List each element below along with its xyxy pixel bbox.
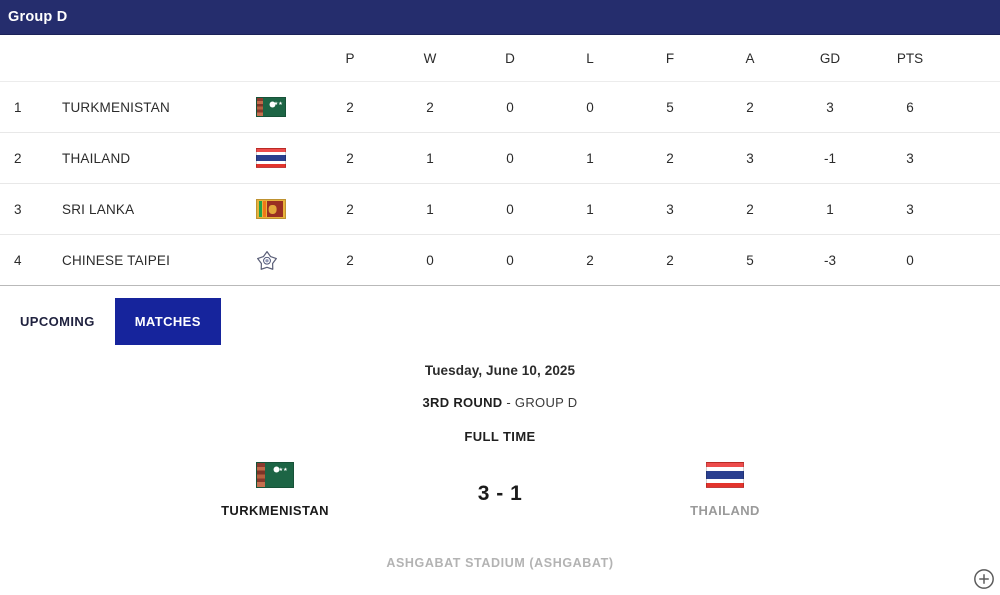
row-played: 2 (310, 235, 390, 286)
row-position: 1 (0, 82, 62, 133)
standings-body: 1 TURKMENISTAN ★★ 2 2 0 0 5 2 3 6 (0, 82, 1000, 286)
standings-table: P W D L F A GD PTS 1 TURKMENISTAN ★★ (0, 35, 1000, 285)
row-position: 3 (0, 184, 62, 235)
row-points: 3 (870, 133, 950, 184)
tab-upcoming-label: UPCOMING (20, 314, 95, 329)
row-goals-for: 5 (630, 82, 710, 133)
row-won: 1 (390, 133, 470, 184)
row-flag-cell (232, 184, 310, 235)
row-spacer (950, 184, 1000, 235)
turkmenistan-flag-icon-large: ★★ (125, 462, 425, 493)
row-lost: 0 (550, 82, 630, 133)
row-flag-cell (232, 235, 310, 286)
row-played: 2 (310, 82, 390, 133)
plus-circle-icon[interactable] (973, 568, 995, 590)
row-won: 1 (390, 184, 470, 235)
row-lost: 1 (550, 184, 630, 235)
match-teams-row: ★★ TURKMENISTAN 3 - 1 THAILAND (0, 454, 1000, 540)
header-won: W (390, 35, 470, 82)
row-played: 2 (310, 184, 390, 235)
sri-lanka-flag-icon (256, 199, 286, 219)
standings-header: P W D L F A GD PTS (0, 35, 1000, 82)
row-goals-for: 2 (630, 133, 710, 184)
row-goal-diff: 1 (790, 184, 870, 235)
row-drawn: 0 (470, 235, 550, 286)
row-lost: 1 (550, 133, 630, 184)
header-team (62, 35, 232, 82)
match-tabs: UPCOMING MATCHES (0, 298, 1000, 345)
row-team-name: THAILAND (62, 133, 232, 184)
tab-matches-label: MATCHES (135, 314, 201, 329)
header-drawn: D (470, 35, 550, 82)
row-points: 3 (870, 184, 950, 235)
table-divider (0, 285, 1000, 286)
header-goals-against: A (710, 35, 790, 82)
row-goals-against: 2 (710, 82, 790, 133)
header-flag (232, 35, 310, 82)
away-team-name: THAILAND (575, 503, 875, 518)
home-team-name: TURKMENISTAN (125, 503, 425, 518)
row-goals-against: 5 (710, 235, 790, 286)
row-spacer (950, 235, 1000, 286)
match-score: 3 - 1 (425, 482, 575, 506)
header-position (0, 35, 62, 82)
table-row[interactable]: 3 SRI LANKA 2 1 0 1 3 2 1 3 (0, 184, 1000, 235)
row-drawn: 0 (470, 184, 550, 235)
turkmenistan-flag-icon: ★★ (256, 97, 286, 117)
table-row[interactable]: 4 CHINESE TAIPEI 2 0 0 2 2 5 (0, 235, 1000, 286)
row-spacer (950, 82, 1000, 133)
table-row[interactable]: 1 TURKMENISTAN ★★ 2 2 0 0 5 2 3 6 (0, 82, 1000, 133)
match-round-number: 3RD ROUND (423, 395, 503, 410)
thailand-flag-icon-large (575, 462, 875, 493)
row-goal-diff: 3 (790, 82, 870, 133)
row-goal-diff: -1 (790, 133, 870, 184)
group-header: Group D (0, 0, 1000, 35)
match-score-block: 3 - 1 (425, 454, 575, 506)
row-drawn: 0 (470, 133, 550, 184)
match-date: Tuesday, June 10, 2025 (0, 363, 1000, 378)
match-status: FULL TIME (0, 429, 1000, 444)
row-flag-cell (232, 133, 310, 184)
header-spacer (950, 35, 1000, 82)
header-goals-for: F (630, 35, 710, 82)
row-team-name: SRI LANKA (62, 184, 232, 235)
row-goals-for: 3 (630, 184, 710, 235)
home-team-block[interactable]: ★★ TURKMENISTAN (125, 454, 425, 518)
thailand-flag-icon (256, 148, 286, 168)
header-lost: L (550, 35, 630, 82)
row-won: 2 (390, 82, 470, 133)
match-venue: ASHGABAT STADIUM (ASHGABAT) (0, 556, 1000, 570)
row-won: 0 (390, 235, 470, 286)
tab-matches[interactable]: MATCHES (115, 298, 221, 345)
row-goals-against: 2 (710, 184, 790, 235)
header-points: PTS (870, 35, 950, 82)
group-title: Group D (8, 9, 67, 25)
tab-upcoming[interactable]: UPCOMING (0, 298, 115, 345)
table-row[interactable]: 2 THAILAND 2 1 0 1 2 3 -1 3 (0, 133, 1000, 184)
row-team-name: CHINESE TAIPEI (62, 235, 232, 286)
row-spacer (950, 133, 1000, 184)
row-lost: 2 (550, 235, 630, 286)
away-team-block[interactable]: THAILAND (575, 454, 875, 518)
row-team-name: TURKMENISTAN (62, 82, 232, 133)
match-round: 3RD ROUND - GROUP D (0, 395, 1000, 410)
row-goals-against: 3 (710, 133, 790, 184)
row-goal-diff: -3 (790, 235, 870, 286)
header-played: P (310, 35, 390, 82)
header-goal-diff: GD (790, 35, 870, 82)
row-flag-cell: ★★ (232, 82, 310, 133)
row-points: 6 (870, 82, 950, 133)
row-position: 4 (0, 235, 62, 286)
row-goals-for: 2 (630, 235, 710, 286)
match-card: Tuesday, June 10, 2025 3RD ROUND - GROUP… (0, 345, 1000, 570)
match-round-group: - GROUP D (502, 395, 577, 410)
row-played: 2 (310, 133, 390, 184)
chinese-taipei-flag-icon (256, 250, 286, 270)
row-position: 2 (0, 133, 62, 184)
row-points: 0 (870, 235, 950, 286)
row-drawn: 0 (470, 82, 550, 133)
standings-header-row: P W D L F A GD PTS (0, 35, 1000, 82)
